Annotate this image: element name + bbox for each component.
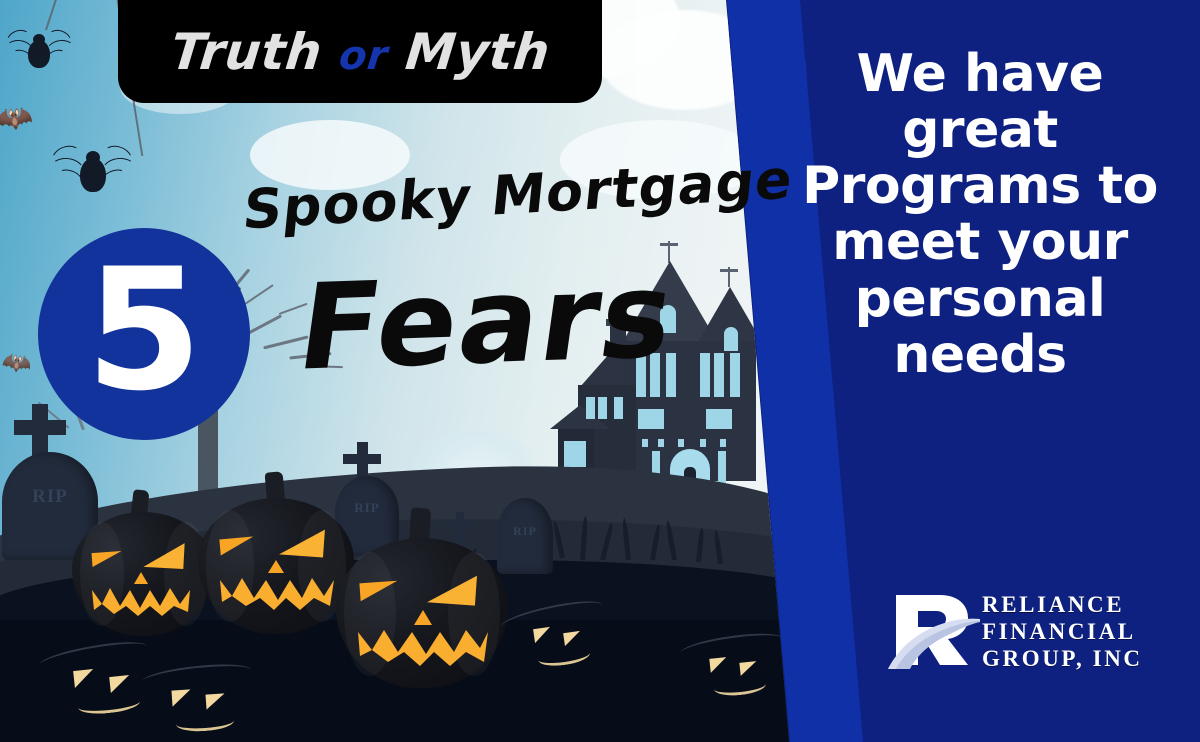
panel-message: We have great Programs to meet your pers… (778, 46, 1182, 383)
pumpkin-mouth (354, 622, 492, 674)
pumpkin-eye (219, 537, 254, 556)
jack-o-lantern (336, 538, 508, 688)
reliance-r-mark-icon (884, 589, 980, 671)
logo-line-2: FINANCIAL (982, 618, 1143, 645)
spider-icon (55, 138, 129, 212)
company-logo: RELIANCE FINANCIAL GROUP, INC (884, 589, 1136, 675)
headline-line-2: Fears (290, 245, 683, 397)
banner-text-before: Truth (168, 23, 343, 81)
pumpkin-eye (143, 541, 184, 569)
bat-icon: 🦇 (0, 102, 35, 137)
number-badge-value: 5 (86, 246, 203, 414)
banner-text-after: Myth (385, 23, 553, 81)
glowing-creature-eyes (148, 668, 278, 738)
banner-text: Truth or Myth (168, 23, 553, 81)
logo-wordmark: RELIANCE FINANCIAL GROUP, INC (982, 591, 1143, 672)
number-badge: 5 (38, 228, 250, 440)
pumpkin-eye (359, 581, 398, 602)
logo-line-3: GROUP, INC (982, 645, 1143, 672)
pumpkin-eye (427, 572, 477, 605)
banner-text-highlight: or (337, 33, 390, 79)
tombstone-label: RIP (2, 486, 98, 508)
logo-line-1: RELIANCE (982, 591, 1143, 618)
spider-icon (8, 24, 68, 84)
truth-or-myth-banner: Truth or Myth (118, 0, 602, 103)
jack-o-lantern (72, 512, 214, 636)
pumpkin-eye (92, 551, 123, 567)
halloween-mortgage-promo-graphic: 🦇 🦇 (0, 0, 1200, 742)
glowing-creature-eyes (690, 638, 790, 702)
bat-icon: 🦇 (1, 351, 33, 378)
pumpkin-mouth (216, 572, 338, 618)
pumpkin-mouth (88, 582, 198, 624)
tombstone-label: RIP (497, 524, 553, 539)
pumpkin-eye (279, 526, 325, 557)
glowing-creature-eyes (512, 608, 632, 672)
jack-o-lantern (198, 498, 354, 634)
